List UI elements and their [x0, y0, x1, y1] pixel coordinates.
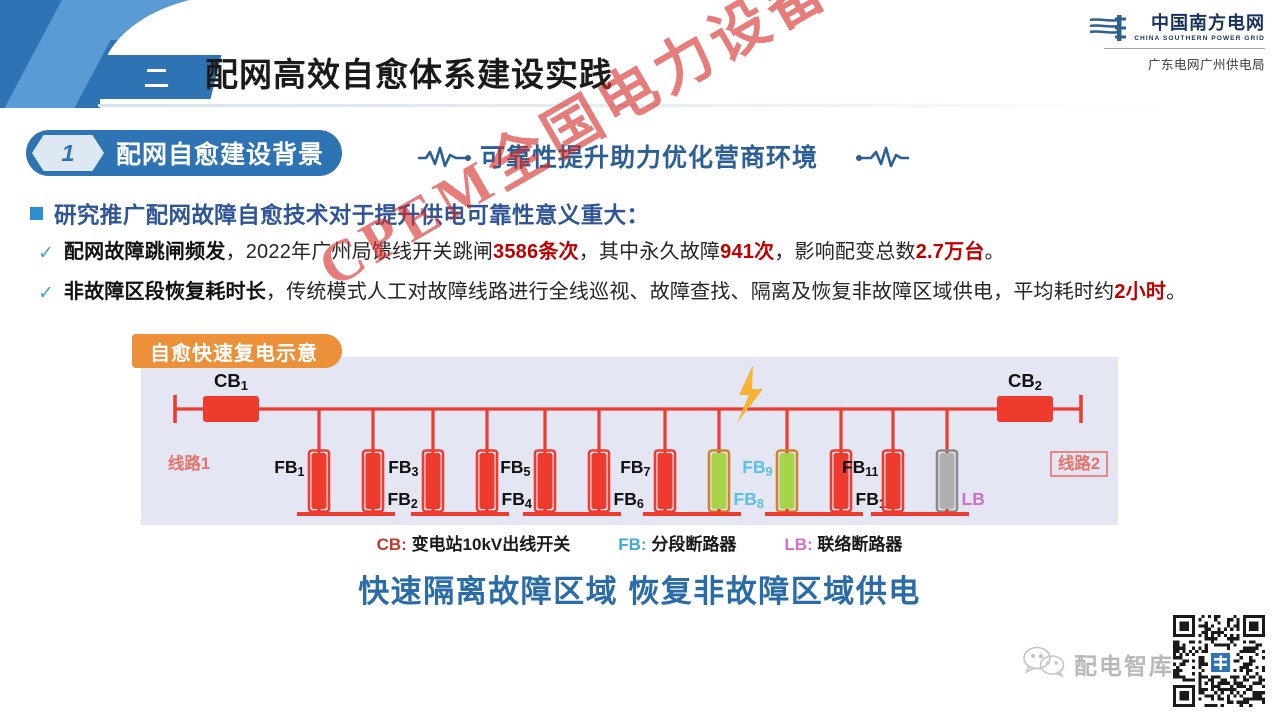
svg-text:FB8: FB8 [734, 489, 764, 511]
legend-desc: 联络断路器 [817, 535, 902, 554]
csg-grid-logo-icon [1089, 14, 1127, 42]
svg-text:FB5: FB5 [500, 457, 530, 479]
highlight-value: 3586条次 [493, 241, 579, 263]
closing-statement: 快速隔离故障区域 恢复非故障区域供电 [0, 566, 1279, 611]
wechat-account-name: 配电智库 [1074, 647, 1174, 681]
page-title: 配网高效自愈体系建设实践 [205, 48, 613, 96]
legend-key: LB: [784, 535, 812, 554]
section-number-label: 二 [98, 55, 216, 99]
svg-text:线路2: 线路2 [1058, 453, 1100, 473]
diagram-legend: CB: 变电站10kV出线开关 FB: 分段断路器 LB: 联络断路器 [0, 530, 1279, 555]
svg-text:FB11: FB11 [842, 457, 879, 479]
legend-item-lb: LB: 联络断路器 [784, 530, 902, 555]
svg-text:CB2: CB2 [1008, 370, 1042, 393]
list-item-seg: ，传统模式人工对故障线路进行全线巡视、故障查找、隔离及恢复非故障区域供电，平均耗… [266, 281, 1114, 303]
qr-code-icon [1173, 615, 1265, 707]
brand-divider [1104, 48, 1265, 49]
legend-desc: 变电站10kV出线开关 [412, 535, 571, 554]
subsection-label: 配网自愈建设背景 [116, 135, 324, 171]
subsection-number: 1 [32, 135, 104, 171]
svg-text:LB: LB [962, 489, 985, 509]
subsection-banner: 1 配网自愈建设背景 [26, 130, 342, 176]
wechat-footer: 配电智库 [1022, 645, 1174, 683]
svg-text:FB1: FB1 [274, 457, 304, 479]
slide-root: 二 配网高效自愈体系建设实践 中国南方电网 C [0, 0, 1279, 721]
svg-text:FB6: FB6 [614, 489, 644, 511]
list-item-seg: ，2022年广州局馈线开关跳闸 [226, 241, 494, 263]
svg-text:FB9: FB9 [742, 457, 772, 479]
brand-logo: 中国南方电网 CHINA SOUTHERN POWER GRID 广东电网广州供… [1070, 14, 1265, 73]
list-item-lead: 配网故障跳闸频发 [64, 241, 226, 263]
list-item-seg: 。 [985, 241, 1005, 263]
title-divider [98, 104, 1168, 107]
legend-key: FB: [618, 535, 646, 554]
square-bullet-icon [30, 207, 43, 220]
check-icon: ✓ [38, 242, 54, 265]
legend-item-fb: FB: 分段断路器 [618, 530, 736, 555]
wechat-icon [1022, 645, 1066, 683]
diagram-title-tag: 自愈快速复电示意 [132, 334, 342, 368]
self-healing-circuit-diagram: FB1FB2FB3FB4FB5FB6FB7FB8FB9FB10FB11LBCB1… [141, 357, 1118, 525]
main-bullet: 研究推广配网故障自愈技术对于提升供电可靠性意义重大： [30, 198, 649, 230]
highlight-value: 941次 [720, 241, 774, 263]
svg-text:CB1: CB1 [214, 370, 248, 393]
list-item-lead: 非故障区段恢复耗时长 [64, 281, 266, 303]
list-item: ✓ 非故障区段恢复耗时长，传统模式人工对故障线路进行全线巡视、故障查找、隔离及恢… [38, 279, 1186, 305]
main-bullet-text: 研究推广配网故障自愈技术对于提升供电可靠性意义重大： [54, 198, 649, 230]
list-item-text: 非故障区段恢复耗时长，传统模式人工对故障线路进行全线巡视、故障查找、隔离及恢复非… [64, 279, 1186, 305]
brand-name-cn: 中国南方电网 [1134, 14, 1265, 33]
list-item-text: 配网故障跳闸频发，2022年广州局馈线开关跳闸3586条次，其中永久故障941次… [64, 239, 1005, 265]
svg-text:FB4: FB4 [502, 489, 532, 511]
brand-subtitle: 广东电网广州供电局 [1070, 54, 1265, 73]
subsection-tagline: 可靠性提升助力优化营商环境 [480, 138, 818, 174]
brand-name-en: CHINA SOUTHERN POWER GRID [1134, 35, 1265, 42]
waveform-icon-left [418, 146, 472, 173]
legend-key: CB: [377, 535, 407, 554]
svg-text:FB7: FB7 [620, 457, 650, 479]
svg-text:FB3: FB3 [388, 457, 418, 479]
list-item-seg: 。 [1166, 281, 1186, 303]
legend-item-cb: CB: 变电站10kV出线开关 [377, 530, 571, 555]
waveform-icon-right [855, 146, 909, 173]
svg-text:线路1: 线路1 [168, 453, 210, 473]
check-icon: ✓ [38, 282, 54, 305]
svg-text:FB2: FB2 [388, 489, 418, 511]
list-item-seg: ，影响配变总数 [774, 241, 915, 263]
highlight-value: 2小时 [1114, 281, 1166, 303]
list-item-seg: ，其中永久故障 [579, 241, 720, 263]
highlight-value: 2.7万台 [916, 241, 985, 263]
legend-desc: 分段断路器 [651, 535, 736, 554]
list-item: ✓ 配网故障跳闸频发，2022年广州局馈线开关跳闸3586条次，其中永久故障94… [38, 239, 1005, 265]
